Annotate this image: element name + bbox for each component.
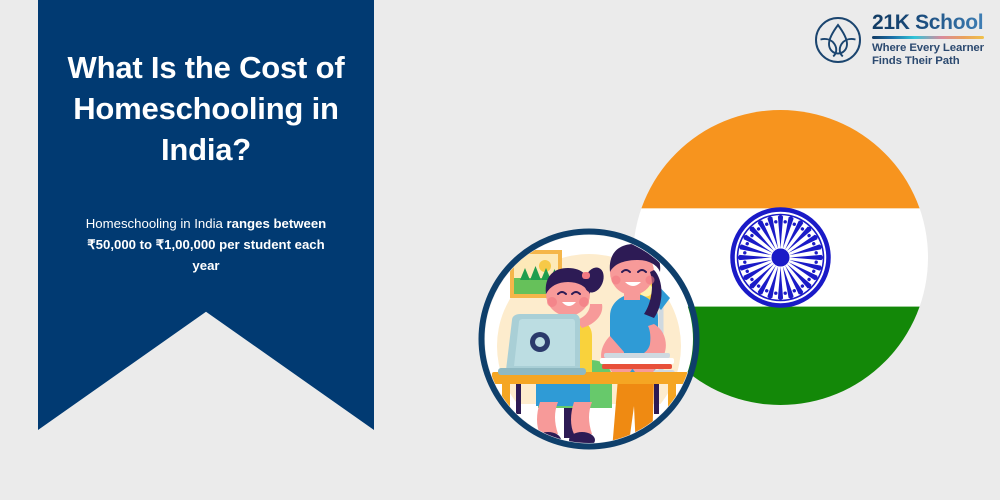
headline-ribbon: What Is the Cost of Homeschooling in Ind…	[38, 0, 374, 430]
tagline-line-2: Finds Their Path	[872, 55, 960, 67]
lotus-circle-logo-icon	[813, 15, 863, 65]
subtitle: Homeschooling in India ranges between ₹5…	[64, 213, 348, 277]
brand-gradient-rule	[872, 36, 984, 39]
homeschooling-illustration	[478, 228, 700, 450]
page-title: What Is the Cost of Homeschooling in Ind…	[64, 48, 348, 171]
brand-tagline: Where Every Learner Finds Their Path	[872, 42, 984, 69]
brand-logo[interactable]: 21K School Where Every Learner Finds The…	[813, 12, 984, 69]
subtitle-regular-part: Homeschooling in India	[86, 216, 227, 231]
logo-text-block: 21K School Where Every Learner Finds The…	[872, 12, 984, 69]
brand-name: 21K School	[872, 12, 984, 33]
ribbon-content: What Is the Cost of Homeschooling in Ind…	[38, 0, 374, 277]
tagline-line-1: Where Every Learner	[872, 42, 984, 54]
